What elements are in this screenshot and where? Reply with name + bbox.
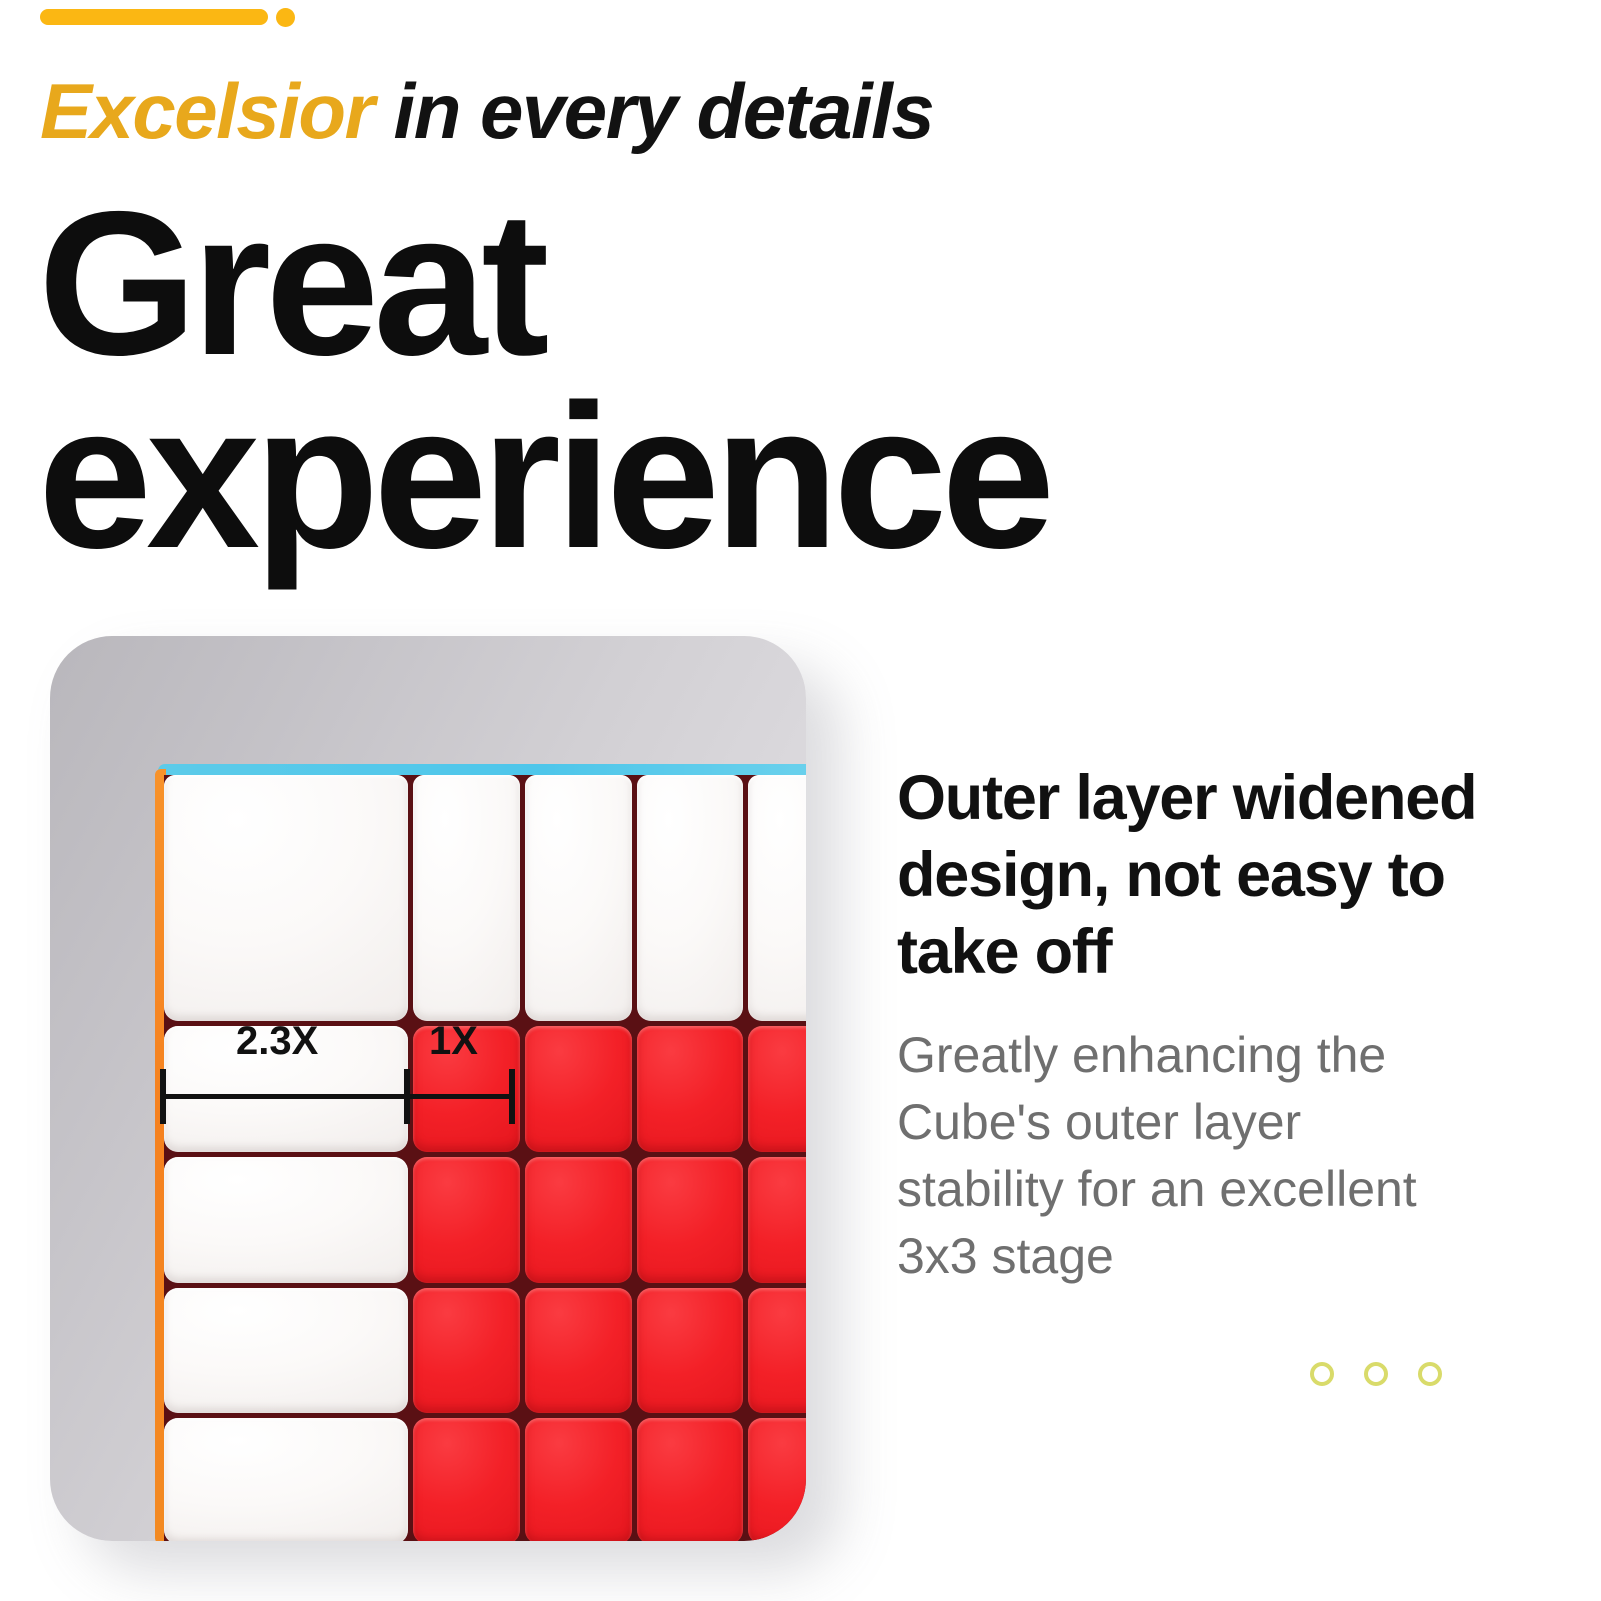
cube-tile-red-r3c4: [748, 1288, 806, 1414]
cube-tile-red-r3c3: [637, 1288, 744, 1414]
cube-tile-red-r4c2: [525, 1418, 632, 1541]
cube-tile-white-r0c1: [413, 775, 520, 1021]
cube-tile-red-r3c1: [413, 1288, 520, 1414]
cube-tile-red-r2c4: [748, 1157, 806, 1283]
eyebrow-line: Excelsior in every details: [40, 72, 933, 150]
cube-tile-white-r1c0: [164, 1026, 408, 1152]
pagination-dots[interactable]: [1310, 1362, 1442, 1386]
accent-dot: [276, 8, 295, 27]
cube-tile-red-r4c1: [413, 1418, 520, 1541]
cube-tile-red-r3c2: [525, 1288, 632, 1414]
headline-line-1: Great: [38, 188, 1258, 381]
cube-tile-red-r2c2: [525, 1157, 632, 1283]
cube-tile-white-r4c0: [164, 1418, 408, 1541]
cube-tile-red-r1c4: [748, 1026, 806, 1152]
cube-render: [155, 764, 806, 1541]
cube-sticker-grid: [164, 775, 806, 1541]
cube-tile-red-r2c3: [637, 1157, 744, 1283]
cube-tile-red-r1c2: [525, 1026, 632, 1152]
feature-body: Greatly enhancing the Cube's outer layer…: [897, 1022, 1457, 1290]
cube-tile-white-r0c0: [164, 775, 408, 1021]
cube-tile-red-r1c3: [637, 1026, 744, 1152]
pagination-dot-3[interactable]: [1418, 1362, 1442, 1386]
cube-image-panel: 2.3X 1X: [50, 636, 806, 1541]
cube-tile-white-r0c4: [748, 775, 806, 1021]
cube-tile-white-r2c0: [164, 1157, 408, 1283]
marketing-slide: Excelsior in every details Great experie…: [0, 0, 1601, 1601]
cube-tile-white-r3c0: [164, 1288, 408, 1414]
cube-tile-red-r4c4: [748, 1418, 806, 1541]
cube-tile-red-r1c1: [413, 1026, 520, 1152]
pagination-dot-1[interactable]: [1310, 1362, 1334, 1386]
cube-tile-red-r4c3: [637, 1418, 744, 1541]
cube-tile-white-r0c2: [525, 775, 632, 1021]
cube-tile-red-r2c1: [413, 1157, 520, 1283]
pagination-dot-2[interactable]: [1364, 1362, 1388, 1386]
eyebrow-highlight: Excelsior: [40, 67, 373, 155]
accent-bar: [40, 9, 268, 25]
cube-tile-white-r0c3: [637, 775, 744, 1021]
feature-title: Outer layer widened design, not easy to …: [897, 760, 1537, 991]
page-title: Great experience: [38, 188, 1258, 573]
eyebrow-rest: in every details: [373, 67, 933, 155]
headline-line-2: experience: [38, 381, 1258, 574]
